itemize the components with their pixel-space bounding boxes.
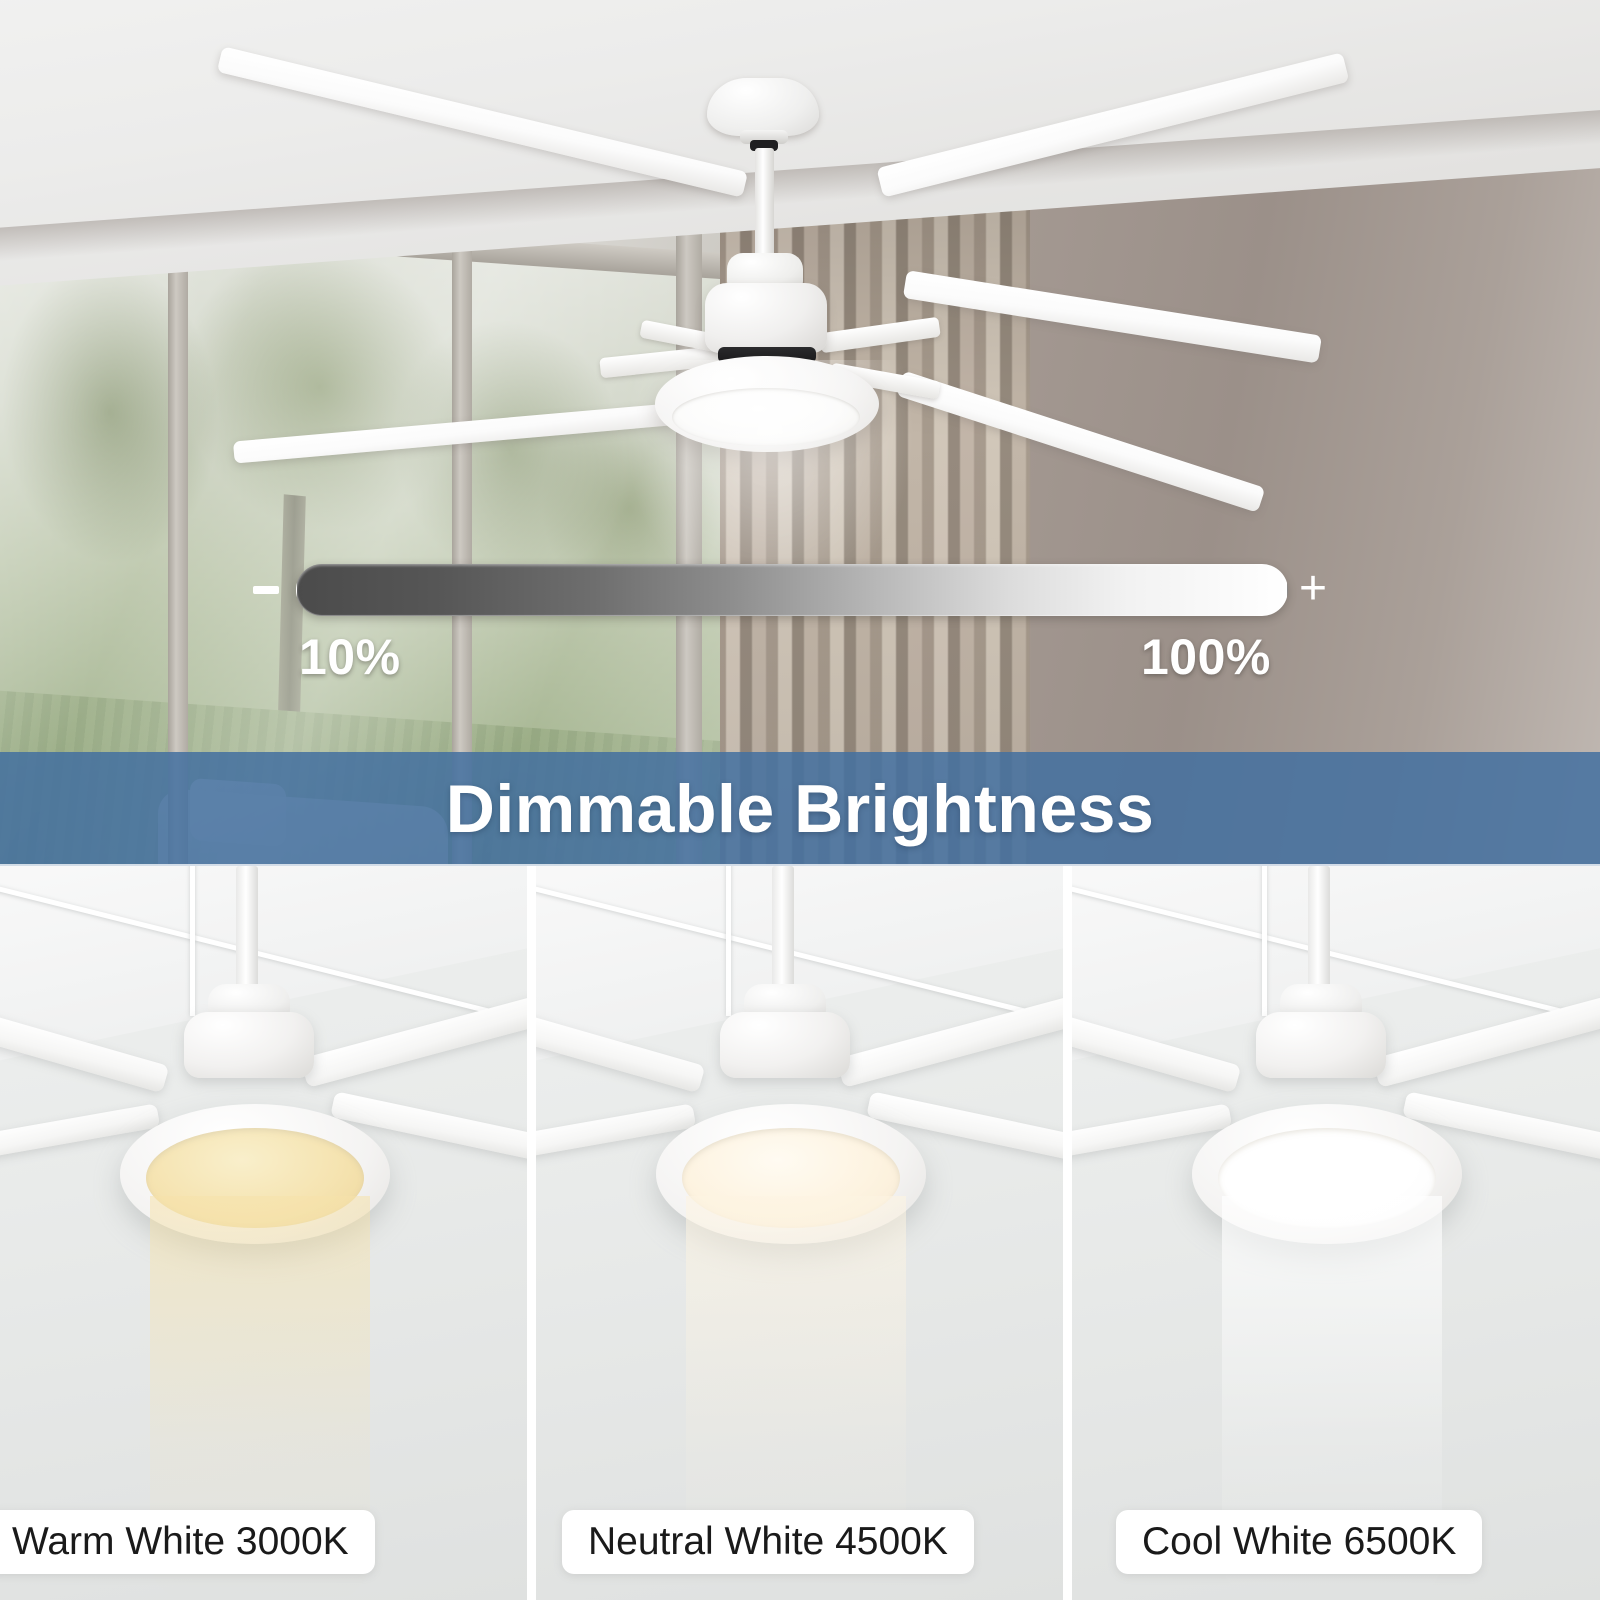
warm-white-label: Warm White 3000K [0, 1510, 375, 1574]
fan-downrod [236, 866, 258, 994]
led-light-lens [682, 1128, 900, 1228]
cool-white-label-text: Cool White 6500K [1142, 1520, 1456, 1564]
panel-wall-corner [726, 866, 731, 1016]
warm-white-label-text: Warm White 3000K [12, 1520, 349, 1564]
neutral-white-label: Neutral White 4500K [562, 1510, 974, 1574]
fan-blade [836, 994, 1063, 1088]
led-light-lens [146, 1128, 364, 1228]
cool-white-label: Cool White 6500K [1116, 1510, 1482, 1574]
fan-downrod [772, 866, 794, 994]
brightness-slider-group: − + 10% 100% [0, 0, 1600, 866]
minus-icon[interactable]: − [253, 586, 279, 594]
product-infographic: − + 10% 100% Dimmable Brightness [0, 0, 1600, 1600]
led-light-lens [1218, 1128, 1436, 1228]
room-scene-photo: − + 10% 100% Dimmable Brightness [0, 0, 1600, 866]
warm-white-panel: Warm White 3000K [0, 866, 527, 1600]
fan-blade [1372, 994, 1600, 1088]
brightness-min-label: 10% [299, 628, 401, 686]
brightness-max-label: 100% [1141, 628, 1271, 686]
panel-wall-corner [1262, 866, 1267, 1016]
motor-housing [1256, 1012, 1386, 1078]
fan-blade [300, 994, 527, 1088]
panel-wall-corner [190, 866, 195, 1016]
feature-banner: Dimmable Brightness [0, 752, 1600, 866]
color-temperature-comparison: Warm White 3000K Neutral White 4500K [0, 866, 1600, 1600]
brightness-slider-track[interactable] [296, 564, 1288, 616]
cool-white-panel: Cool White 6500K [1072, 866, 1600, 1600]
motor-housing [184, 1012, 314, 1078]
motor-housing [720, 1012, 850, 1078]
fan-downrod [1308, 866, 1330, 994]
neutral-white-label-text: Neutral White 4500K [588, 1520, 948, 1564]
feature-banner-title: Dimmable Brightness [446, 770, 1155, 848]
plus-icon[interactable]: + [1296, 570, 1330, 610]
neutral-white-panel: Neutral White 4500K [536, 866, 1063, 1600]
